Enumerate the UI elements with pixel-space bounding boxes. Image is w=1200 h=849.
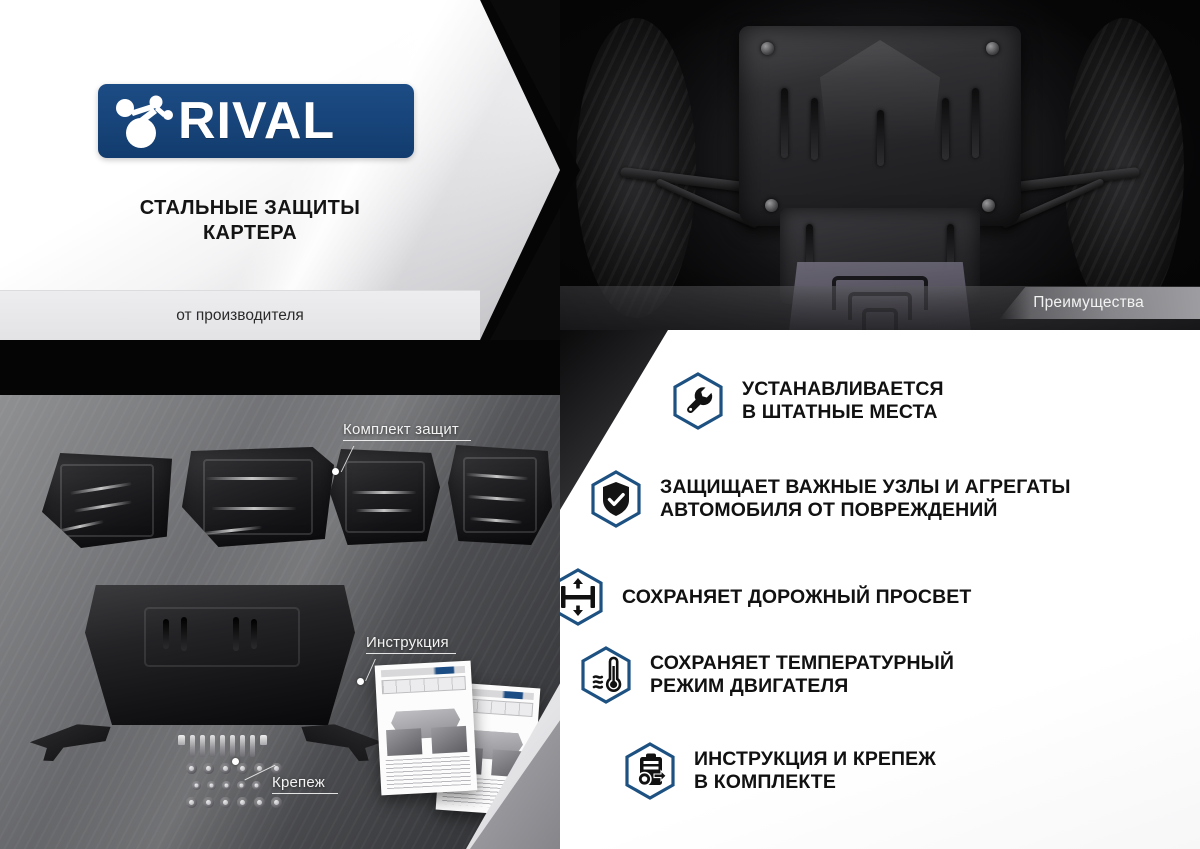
black-separator-band: [0, 340, 560, 396]
thermometer-icon: [580, 646, 632, 704]
callout-instruction-label: Инструкция: [366, 634, 449, 651]
benefit-text-2: ЗАЩИЩАЕТ ВАЖНЫЕ УЗЛЫ И АГРЕГАТЫ АВТОМОБИ…: [660, 476, 1071, 522]
advantages-ribbon-label: Преимущества: [1033, 294, 1144, 312]
benefit-5-line-1: ИНСТРУКЦИЯ И КРЕПЕЖ: [694, 748, 936, 771]
skid-plate-piece-2: [182, 447, 334, 547]
callout-protection-kit: Комплект защит: [343, 421, 471, 441]
benefits-list: УСТАНАВЛИВАЕТСЯ В ШТАТНЫЕ МЕСТА ЗАЩИЩАЕТ…: [560, 330, 1200, 849]
benefit-1-line-1: УСТАНАВЛИВАЕТСЯ: [742, 378, 944, 401]
benefits-panel: УСТАНАВЛИВАЕТСЯ В ШТАТНЫЕ МЕСТА ЗАЩИЩАЕТ…: [560, 330, 1200, 849]
hero-footer-label: от производителя: [176, 307, 304, 325]
benefit-text-4: СОХРАНЯЕТ ТЕМПЕРАТУРНЫЙ РЕЖИМ ДВИГАТЕЛЯ: [650, 652, 954, 698]
benefit-item-5: ИНСТРУКЦИЯ И КРЕПЕЖ В КОМПЛЕКТЕ: [624, 742, 936, 800]
callout-fasteners-label: Крепеж: [272, 774, 325, 791]
callout-protection-kit-label: Комплект защит: [343, 421, 459, 438]
callout-instruction: Инструкция: [366, 634, 456, 654]
brand-logo: RIVAL: [98, 84, 414, 158]
hero-footer-bar: от производителя: [0, 290, 480, 340]
page-title: СТАЛЬНЫЕ ЗАЩИТЫ КАРТЕРА: [0, 196, 500, 246]
benefit-2-line-1: ЗАЩИЩАЕТ ВАЖНЫЕ УЗЛЫ И АГРЕГАТЫ: [660, 476, 1071, 499]
skid-plate-piece-4: [448, 445, 552, 545]
benefit-5-line-2: В КОМПЛЕКТЕ: [694, 771, 936, 794]
hero-title-line-2: КАРТЕРА: [0, 221, 500, 246]
benefit-4-line-1: СОХРАНЯЕТ ТЕМПЕРАТУРНЫЙ: [650, 652, 954, 675]
skid-plate-piece-3: [330, 449, 440, 545]
benefit-item-2: ЗАЩИЩАЕТ ВАЖНЫЕ УЗЛЫ И АГРЕГАТЫ АВТОМОБИ…: [590, 470, 1071, 528]
leader-dot-fasteners: [232, 758, 239, 765]
benefit-text-3: СОХРАНЯЕТ ДОРОЖНЫЙ ПРОСВЕТ: [622, 586, 971, 609]
shield-check-icon: [590, 470, 642, 528]
hero-sheen: [0, 0, 560, 340]
hero-title-line-1: СТАЛЬНЫЕ ЗАЩИТЫ: [0, 196, 500, 221]
clipboard-bolt-icon: [624, 742, 676, 800]
benefit-2-line-2: АВТОМОБИЛЯ ОТ ПОВРЕЖДЕНИЙ: [660, 499, 1071, 522]
benefit-item-4: СОХРАНЯЕТ ТЕМПЕРАТУРНЫЙ РЕЖИМ ДВИГАТЕЛЯ: [580, 646, 954, 704]
benefit-item-3: СОХРАНЯЕТ ДОРОЖНЫЙ ПРОСВЕТ: [552, 568, 971, 626]
callout-fasteners: Крепеж: [272, 774, 338, 794]
poster-canvas: Преимущества RIVAL: [0, 0, 1200, 849]
molecule-icon: [108, 91, 180, 151]
benefit-text-1: УСТАНАВЛИВАЕТСЯ В ШТАТНЫЕ МЕСТА: [742, 378, 944, 424]
instruction-sheet-front: [375, 661, 478, 796]
benefit-1-line-2: В ШТАТНЫЕ МЕСТА: [742, 401, 944, 424]
brand-wordmark: RIVAL: [178, 95, 335, 147]
washer-row-3: [186, 797, 282, 808]
leader-dot-protection-kit: [332, 468, 339, 475]
benefit-text-5: ИНСТРУКЦИЯ И КРЕПЕЖ В КОМПЛЕКТЕ: [694, 748, 936, 794]
benefit-item-1: УСТАНАВЛИВАЕТСЯ В ШТАТНЫЕ МЕСТА: [672, 372, 944, 430]
main-skid-plate-product: [85, 585, 355, 725]
wrench-icon: [672, 372, 724, 430]
benefit-4-line-2: РЕЖИМ ДВИГАТЕЛЯ: [650, 675, 954, 698]
washer-row-2: [192, 781, 261, 790]
hero-panel: RIVAL СТАЛЬНЫЕ ЗАЩИТЫ КАРТЕРА от произво…: [0, 0, 560, 340]
advantages-ribbon: Преимущества: [999, 287, 1200, 319]
benefit-3-line-1: СОХРАНЯЕТ ДОРОЖНЫЙ ПРОСВЕТ: [622, 586, 971, 609]
bolt-row: [178, 735, 267, 757]
leader-dot-instruction: [357, 678, 364, 685]
